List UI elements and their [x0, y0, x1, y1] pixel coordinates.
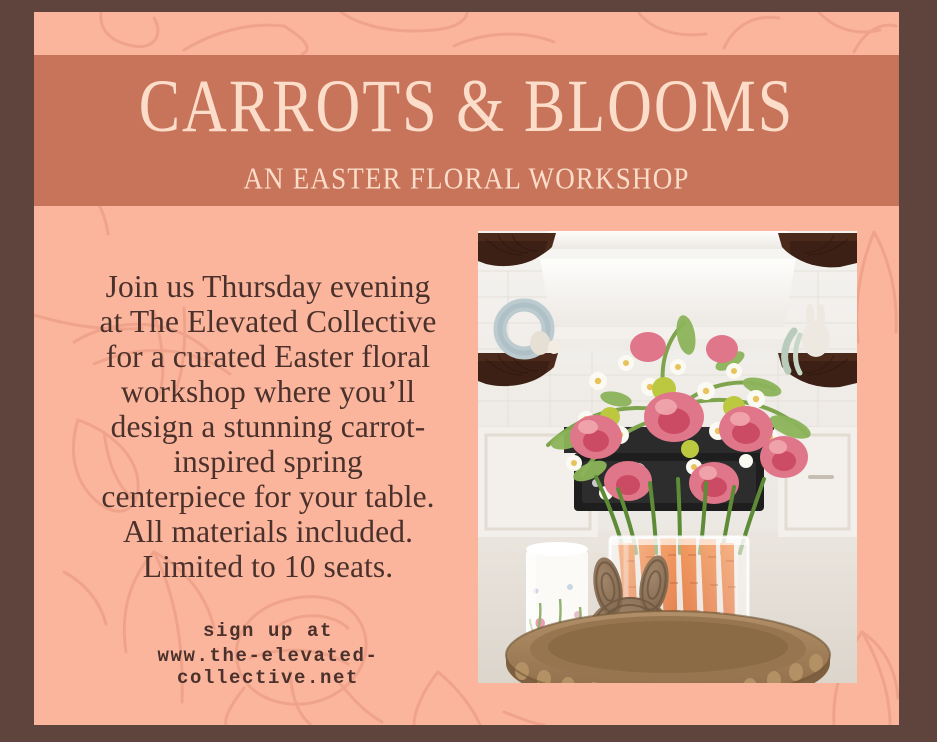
signup-prompt: sign up at — [68, 620, 468, 642]
description-line: Join us Thursday evening — [68, 270, 468, 305]
description-line: design a stunning carrot- — [68, 410, 468, 445]
description-line: Limited to 10 seats. — [68, 550, 468, 585]
description-line: All materials included. — [68, 515, 468, 550]
poster-flyer: CARROTS & BLOOMS AN EASTER FLORAL WORKSH… — [0, 0, 937, 742]
workshop-description: Join us Thursday evening at The Elevated… — [68, 270, 468, 585]
poster-canvas: CARROTS & BLOOMS AN EASTER FLORAL WORKSH… — [34, 12, 899, 725]
description-line: for a curated Easter floral — [68, 340, 468, 375]
workshop-photo — [478, 231, 857, 683]
signup-block: sign up at www.the-elevated-collective.n… — [68, 620, 468, 689]
page-title: CARROTS & BLOOMS — [34, 69, 899, 145]
signup-url[interactable]: www.the-elevated-collective.net — [68, 645, 468, 689]
description-line: centerpiece for your table. — [68, 480, 468, 515]
description-line: inspired spring — [68, 445, 468, 480]
description-line: at The Elevated Collective — [68, 305, 468, 340]
title-banner: CARROTS & BLOOMS AN EASTER FLORAL WORKSH… — [34, 55, 899, 206]
description-line: workshop where you’ll — [68, 375, 468, 410]
page-subtitle: AN EASTER FLORAL WORKSHOP — [34, 161, 899, 197]
